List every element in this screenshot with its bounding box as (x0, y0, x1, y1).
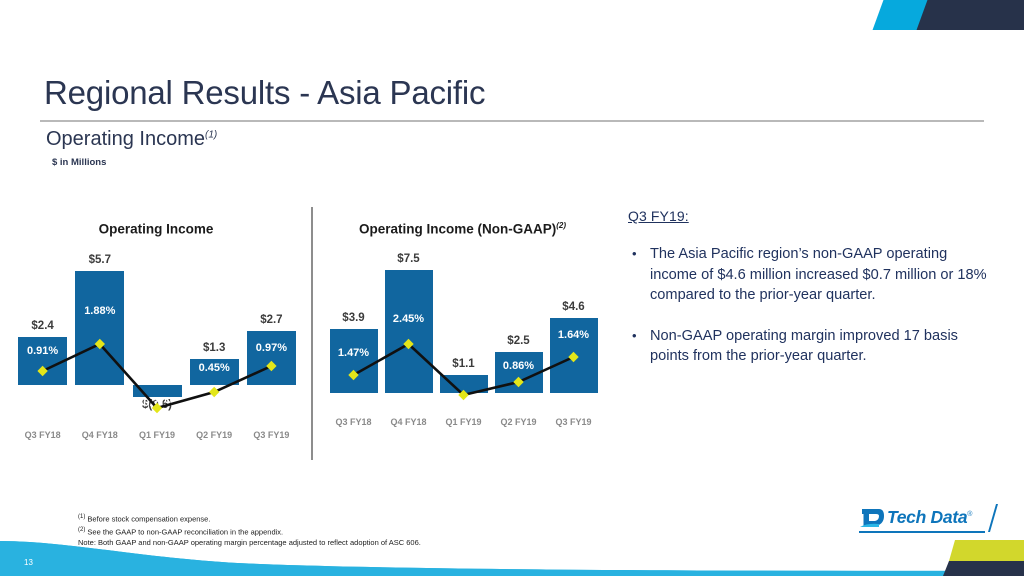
bullet-icon: • (632, 326, 637, 347)
footer-band: 13 (0, 520, 1024, 576)
data-point-marker (209, 387, 219, 397)
footer-navy-block (943, 561, 1024, 576)
data-point-marker (266, 361, 276, 371)
slide-number: 13 (24, 558, 33, 567)
data-point-marker (37, 366, 47, 376)
commentary-heading: Q3 FY19: (628, 208, 988, 224)
margin-trend-line (320, 205, 605, 460)
section-subtitle-text: Operating Income (46, 128, 205, 150)
data-point-marker (568, 352, 578, 362)
list-item-text: The Asia Pacific region’s non-GAAP opera… (650, 246, 987, 303)
top-right-decoration (860, 0, 1024, 30)
commentary-panel: Q3 FY19: • The Asia Pacific region’s non… (628, 208, 988, 387)
slide: Regional Results - Asia Pacific Operatin… (0, 0, 1024, 576)
data-point-marker (348, 370, 358, 380)
chart-operating-income: Operating Income $2.40.91%Q3 FY18$5.71.8… (8, 205, 304, 460)
header-divider (40, 120, 984, 122)
footer-band-shapes (0, 520, 1024, 576)
chart-operating-income-non-gaap: Operating Income (Non-GAAP)(2) $3.91.47%… (320, 205, 605, 460)
margin-trend-line (8, 205, 304, 460)
registered-trademark-icon: ® (967, 511, 972, 518)
chart-divider (311, 207, 313, 460)
data-point-marker (513, 377, 523, 387)
footer-yellow-block (949, 540, 1024, 561)
section-subtitle: Operating Income(1) (46, 128, 217, 151)
units-note: $ in Millions (52, 157, 106, 168)
chart-plot-area: $3.91.47%Q3 FY18$7.52.45%Q4 FY18$1.10.40… (320, 205, 605, 460)
section-subtitle-footnote-marker: (1) (205, 129, 217, 140)
chart-plot-area: $2.40.91%Q3 FY18$5.71.88%Q4 FY18$(0.6)-0… (8, 205, 304, 460)
list-item: • Non-GAAP operating margin improved 17 … (628, 326, 988, 367)
list-item: • The Asia Pacific region’s non-GAAP ope… (628, 244, 988, 306)
list-item-text: Non-GAAP operating margin improved 17 ba… (650, 328, 958, 365)
decoration-navy-bar (917, 0, 1024, 30)
page-title: Regional Results - Asia Pacific (44, 74, 485, 112)
bullet-icon: • (632, 244, 637, 265)
